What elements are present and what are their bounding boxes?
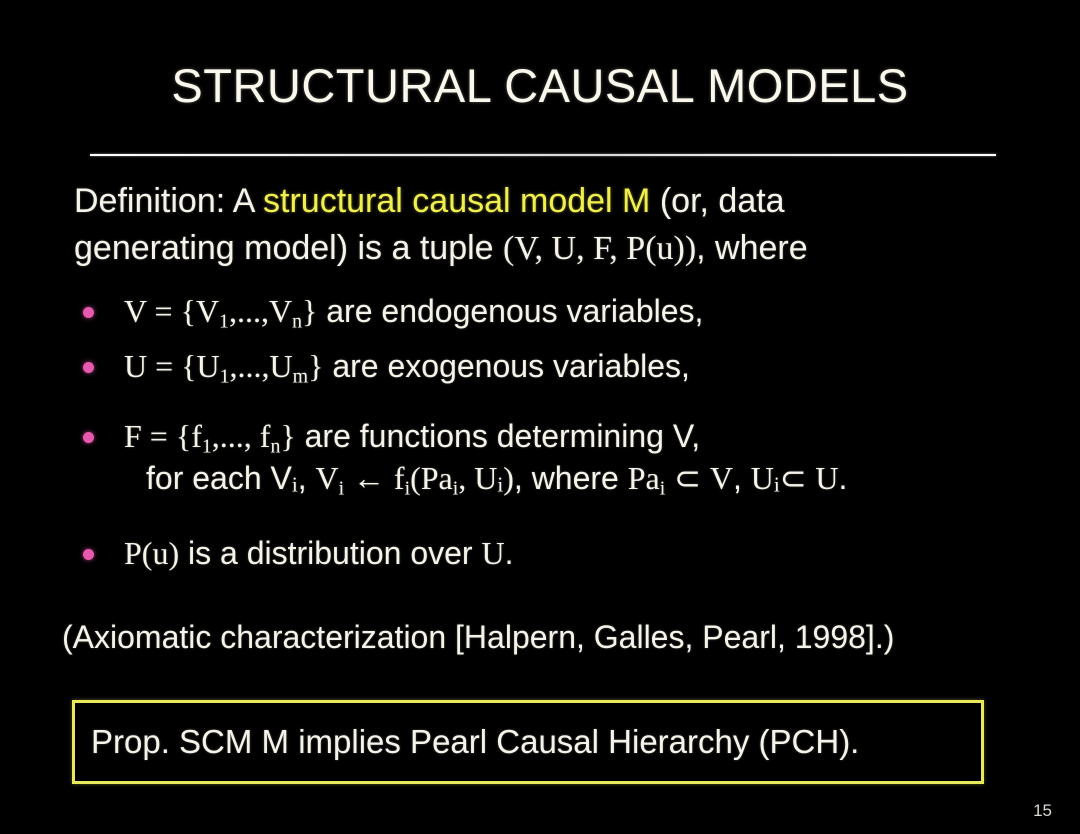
title-divider [90, 154, 996, 156]
definition-line2-a: generating model) is a tuple [74, 229, 503, 267]
bullet-dot-icon [83, 362, 94, 373]
bullet-math-exogenous: U = {U1,...,Um} [124, 348, 323, 384]
bullet-text-endogenous: are endogenous variables, [317, 293, 703, 329]
definition-paragraph: Definition: A structural causal model M … [74, 178, 1004, 272]
bullet-text-functions: are functions determining V, [296, 418, 700, 454]
definition-rest-line1: (or, data [650, 182, 784, 220]
definition-lead: Definition: A [74, 182, 263, 220]
bullet-dot-icon [83, 549, 94, 560]
proposition-text: Prop. SCM M implies Pearl Causal Hierarc… [91, 722, 859, 762]
definition-tuple: (V, U, F, P(u)) [503, 230, 696, 267]
list-item: V = {V1,...,Vn} are endogenous variables… [74, 293, 703, 329]
slide: STRUCTURAL CAUSAL MODELS Definition: A s… [0, 0, 1080, 834]
bullet-dot-icon [83, 432, 94, 443]
list-item: U = {U1,...,Um} are exogenous variables, [74, 348, 690, 384]
definition-line2-b: , where [696, 229, 808, 267]
bullet-math-endogenous: V = {V1,...,Vn} [124, 293, 317, 329]
bullet-subline-functions: for each Vi, Vi ← fi(Pai, Ui), where Pai… [124, 460, 847, 496]
bullet-math-functions: F = {f1,..., fn} [124, 418, 296, 454]
definition-highlight: structural causal model M [263, 182, 650, 220]
proposition-box: Prop. SCM M implies Pearl Causal Hierarc… [72, 700, 984, 784]
page-number: 15 [1033, 801, 1052, 821]
list-item: F = {f1,..., fn} are functions determini… [74, 418, 847, 496]
bullet-dot-icon [83, 307, 94, 318]
axiomatic-note: (Axiomatic characterization [Halpern, Ga… [62, 618, 894, 656]
bullet-text-distribution: is a distribution over U. [179, 535, 513, 571]
bullet-text-exogenous: are exogenous variables, [323, 348, 689, 384]
page-title: STRUCTURAL CAUSAL MODELS [0, 62, 1080, 109]
bullet-math-distribution: P(u) [124, 535, 179, 571]
list-item: P(u) is a distribution over U. [74, 535, 513, 571]
